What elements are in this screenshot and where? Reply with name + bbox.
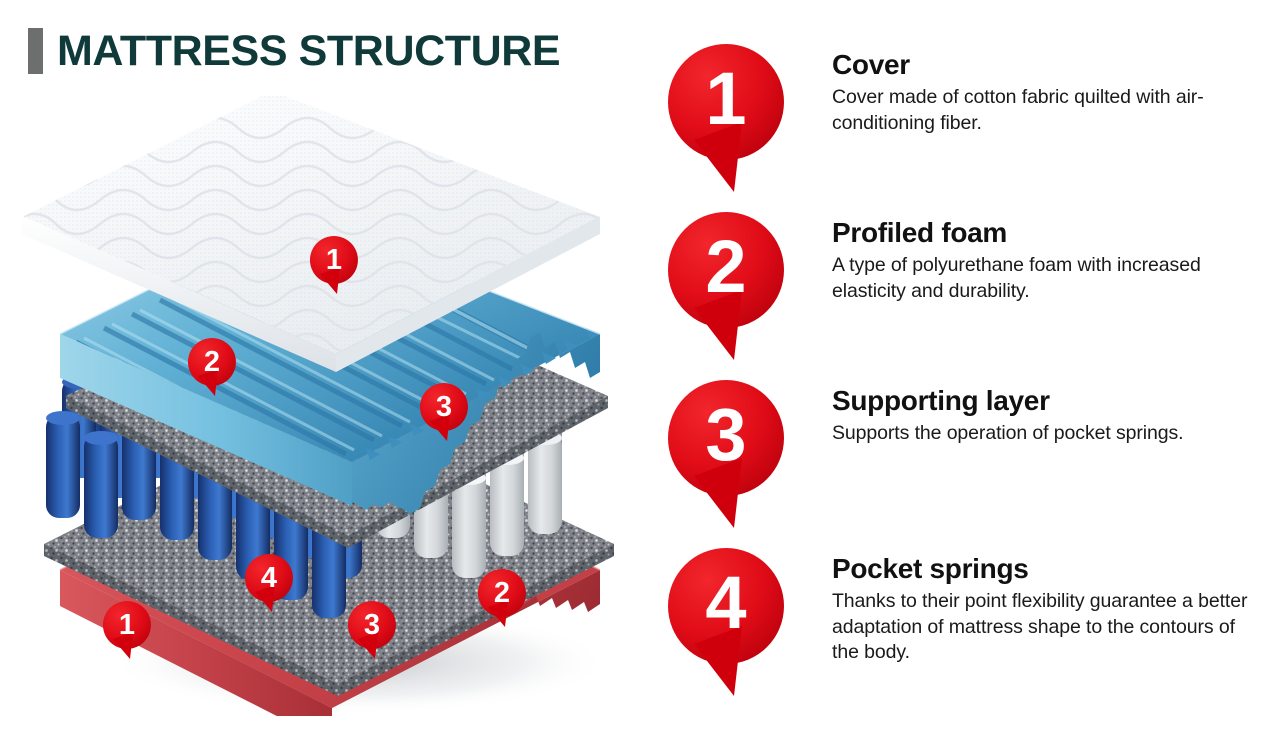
legend-description: Cover made of cotton fabric quilted with… — [832, 85, 1262, 136]
legend-pin-number: 3 — [705, 393, 746, 476]
legend-list: 1 Cover Cover made of cotton fabric quil… — [668, 40, 1268, 724]
page-title-block: MATTRESS STRUCTURE — [28, 28, 560, 74]
marker-number: 1 — [326, 244, 342, 276]
legend-item-1[interactable]: 1 Cover Cover made of cotton fabric quil… — [668, 40, 1268, 208]
legend-pin-4: 4 — [668, 548, 784, 698]
legend-pin-number: 1 — [705, 57, 746, 140]
legend-title: Pocket springs — [832, 552, 1262, 586]
legend-title: Cover — [832, 48, 1262, 82]
legend-text-2: Profiled foam A type of polyurethane foa… — [832, 216, 1262, 304]
mattress-exploded-illustration: 1 2 3 4 — [0, 96, 660, 716]
legend-title: Supporting layer — [832, 384, 1262, 418]
marker-number: 1 — [119, 609, 135, 641]
legend-pin-number: 2 — [705, 225, 746, 308]
infographic-canvas: MATTRESS STRUCTURE — [0, 0, 1280, 743]
marker-number: 4 — [261, 562, 277, 594]
legend-title: Profiled foam — [832, 216, 1262, 250]
page-title: MATTRESS STRUCTURE — [57, 28, 560, 74]
legend-pin-2: 2 — [668, 212, 784, 362]
legend-item-4[interactable]: 4 Pocket springs Thanks to their point f… — [668, 544, 1268, 724]
legend-pin-3: 3 — [668, 380, 784, 530]
legend-text-4: Pocket springs Thanks to their point fle… — [832, 552, 1262, 666]
mattress-layers-svg: 1 2 3 4 — [0, 96, 660, 716]
legend-pin-1: 1 — [668, 44, 784, 194]
legend-text-1: Cover Cover made of cotton fabric quilte… — [832, 48, 1262, 136]
legend-text-3: Supporting layer Supports the operation … — [832, 384, 1262, 447]
legend-pin-number: 4 — [705, 561, 746, 644]
legend-description: Thanks to their point flexibility guaran… — [832, 589, 1262, 666]
marker-number: 3 — [436, 391, 452, 423]
marker-number: 3 — [364, 609, 380, 641]
title-accent-bar — [28, 28, 43, 74]
legend-description: Supports the operation of pocket springs… — [832, 421, 1262, 447]
legend-item-2[interactable]: 2 Profiled foam A type of polyurethane f… — [668, 208, 1268, 376]
legend-item-3[interactable]: 3 Supporting layer Supports the operatio… — [668, 376, 1268, 544]
marker-number: 2 — [494, 577, 510, 609]
legend-description: A type of polyurethane foam with increas… — [832, 253, 1262, 304]
marker-number: 2 — [204, 346, 220, 378]
